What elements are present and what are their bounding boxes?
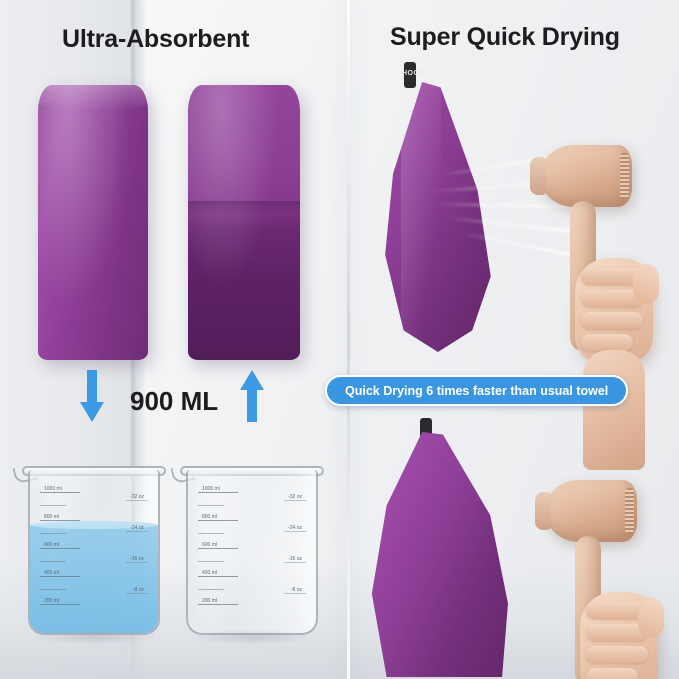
beaker-glass: 1000 ml 800 ml 600 ml 400 ml 200 ml -32 … bbox=[186, 470, 318, 635]
beaker-tick-label: 400 ml bbox=[44, 570, 59, 576]
dryer-grill bbox=[620, 153, 629, 199]
beaker-scale: 1000 ml 800 ml 600 ml 400 ml 200 ml -32 … bbox=[188, 470, 316, 633]
beaker-shadow bbox=[190, 629, 314, 645]
up-arrow-icon bbox=[240, 370, 264, 422]
thumb bbox=[633, 264, 659, 304]
dryer-barrel bbox=[545, 480, 637, 542]
beaker-oz-label: -8 oz bbox=[291, 587, 302, 593]
beaker-oz-label: -32 oz bbox=[130, 494, 144, 500]
dry-towel-image bbox=[38, 85, 148, 360]
beaker-tick-label: 600 ml bbox=[202, 542, 217, 548]
dryer-barrel bbox=[540, 145, 632, 207]
beaker-tick-label: 200 ml bbox=[202, 598, 217, 604]
hand-holding-dryer-top bbox=[575, 258, 653, 363]
right-panel-heading: Super Quick Drying bbox=[390, 23, 620, 52]
dryer-nozzle bbox=[535, 492, 551, 530]
dryer-grill bbox=[625, 488, 634, 534]
thumb bbox=[638, 598, 664, 638]
arrow-head bbox=[80, 402, 104, 422]
beaker-tick-label: 800 ml bbox=[44, 514, 59, 520]
wet-towel-image bbox=[188, 85, 300, 360]
beaker-oz-label: -32 oz bbox=[288, 494, 302, 500]
arrow-head bbox=[240, 370, 264, 390]
beaker-filled: 1000 ml 800 ml 600 ml 400 ml 200 ml -32 … bbox=[28, 460, 160, 635]
beaker-tick-label: 800 ml bbox=[202, 514, 217, 520]
beaker-oz-label: -24 oz bbox=[288, 525, 302, 531]
arrow-shaft bbox=[87, 370, 97, 404]
quick-drying-banner: Quick Drying 6 times faster than usual t… bbox=[325, 375, 628, 406]
beaker-tick-label: 400 ml bbox=[202, 570, 217, 576]
beaker-oz-label: -16 oz bbox=[130, 556, 144, 562]
beaker-shadow bbox=[32, 629, 156, 645]
beaker-oz-label: -16 oz bbox=[288, 556, 302, 562]
dryer-nozzle bbox=[530, 157, 546, 195]
product-infographic: Ultra-Absorbent Super Quick Drying 900 M… bbox=[0, 0, 679, 679]
beaker-tick-label: 600 ml bbox=[44, 542, 59, 548]
beaker-empty: 1000 ml 800 ml 600 ml 400 ml 200 ml -32 … bbox=[186, 460, 318, 635]
beaker-glass: 1000 ml 800 ml 600 ml 400 ml 200 ml -32 … bbox=[28, 470, 160, 635]
left-panel-heading: Ultra-Absorbent bbox=[62, 25, 249, 54]
volume-label: 900 ML bbox=[130, 386, 218, 417]
panel-divider bbox=[347, 0, 350, 679]
beaker-tick-label: 1000 ml bbox=[44, 486, 62, 492]
beaker-oz-label: -8 oz bbox=[133, 587, 144, 593]
arrow-shaft bbox=[247, 388, 257, 422]
beaker-tick-label: 200 ml bbox=[44, 598, 59, 604]
beaker-scale: 1000 ml 800 ml 600 ml 400 ml 200 ml -32 … bbox=[30, 470, 158, 633]
forearm-top bbox=[583, 350, 645, 470]
hook-tag-label: HOOK bbox=[402, 70, 418, 77]
beaker-tick-label: 1000 ml bbox=[202, 486, 220, 492]
hand-holding-dryer-bottom bbox=[580, 592, 658, 679]
down-arrow-icon bbox=[80, 370, 104, 422]
beaker-oz-label: -24 oz bbox=[130, 525, 144, 531]
